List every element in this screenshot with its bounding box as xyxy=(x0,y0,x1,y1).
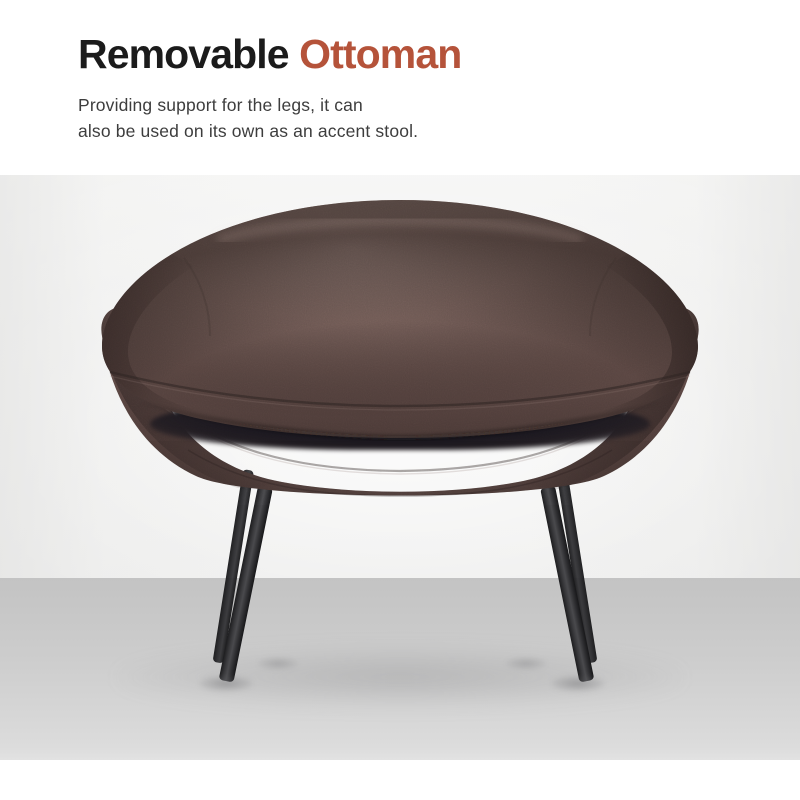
removable-cushion xyxy=(98,196,702,441)
bottom-white-band xyxy=(0,760,800,800)
product-feature-card: Removable Ottoman Providing support for … xyxy=(0,0,800,800)
feature-description: Providing support for the legs, it can a… xyxy=(78,92,418,144)
leg-front-right-contact-shadow xyxy=(552,676,604,691)
headline-word-removable: Removable xyxy=(78,31,289,77)
leg-front-left-contact-shadow xyxy=(200,676,252,691)
leg-back-right-contact-shadow xyxy=(506,658,546,669)
page-title: Removable Ottoman xyxy=(78,28,461,80)
leg-back-left-contact-shadow xyxy=(258,658,298,669)
description-line-1: Providing support for the legs, it can xyxy=(78,92,418,118)
feature-header: Removable Ottoman Providing support for … xyxy=(0,0,800,175)
description-line-2: also be used on its own as an accent sto… xyxy=(78,118,418,144)
headline-word-ottoman: Ottoman xyxy=(299,31,461,77)
